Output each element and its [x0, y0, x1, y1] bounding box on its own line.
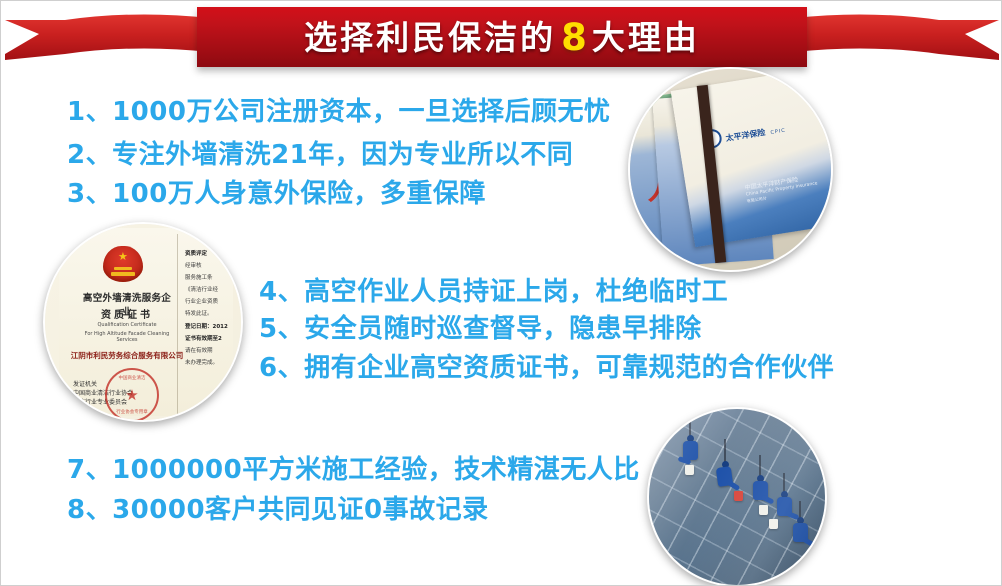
reason-index-3: 3、: [67, 179, 112, 209]
certificate-english-line1: Qualification Certificate: [79, 322, 175, 328]
facade-workers-photo: [647, 407, 827, 586]
certificate-right-line4: 《清洁行业经: [185, 284, 228, 296]
reason-text-4: 高空作业人员持证上岗，杜绝临时工: [304, 277, 728, 307]
insurance-doc-footer: 中国太平洋财产保险 China Pacific Property Insuran…: [744, 173, 819, 204]
reason-index-1: 1、: [67, 97, 112, 127]
certificate-title-line2: 资质证书: [79, 306, 175, 321]
seal-star-icon: ★: [125, 388, 138, 403]
reason-text-7: 1000000平方米施工经验，技术精湛无人比: [112, 455, 640, 485]
certificate-right-column: 资质评定 经审核 服务施工条 《清洁行业经 行业企业资质 特发此证。 登记日期：…: [185, 248, 228, 369]
reason-text-5: 安全员随时巡查督导，隐患早排除: [304, 314, 702, 344]
cpic-logo: 太平洋保险 CPIC: [701, 118, 787, 150]
certificate-english-line2: For High Altitude Facade Cleaning Servic…: [75, 331, 179, 343]
reason-item-3: 3、100万人身意外保险，多重保障: [67, 181, 486, 207]
reason-item-2: 2、专注外墙清洗21年，因为专业所以不同: [67, 142, 573, 168]
banner-highlight-number: 8: [556, 16, 592, 59]
reason-item-5: 5、安全员随时巡查督导，隐患早排除: [259, 316, 702, 342]
reason-item-6: 6、拥有企业高空资质证书，可靠规范的合作伙伴: [259, 355, 834, 381]
reason-index-4: 4、: [259, 277, 304, 307]
certificate-right-line7: 登记日期：2012: [185, 321, 228, 333]
reason-item-1: 1、1000万公司注册资本，一旦选择后顾无忧: [67, 99, 610, 125]
certificate-right-line6: 特发此证。: [185, 308, 228, 320]
national-emblem-icon: ★: [103, 246, 143, 282]
reason-index-7: 7、: [67, 455, 112, 485]
banner-title-prefix: 选择利民保洁的: [304, 21, 556, 54]
insurance-booklet-front: 太平洋保险 CPIC 中国太平洋财产保险 China Pacific Prope…: [671, 67, 833, 247]
certificate-right-line10: 未办理完成。: [185, 357, 228, 369]
certificate-right-line8: 证书有效期至2: [185, 333, 228, 345]
certificate-page: ★ 高空外墙清洗服务企业 资质证书 Qualification Certific…: [59, 228, 233, 416]
certificate-fold-line: [177, 234, 178, 420]
seal-bottom-text: 行业协会专用章: [107, 409, 157, 415]
reason-index-2: 2、: [67, 140, 112, 170]
reason-item-8: 8、30000客户共同见证0事故记录: [67, 497, 489, 523]
certificate-right-line3: 服务施工条: [185, 272, 228, 284]
certificate-right-line2: 经审核: [185, 260, 228, 272]
reason-text-6: 拥有企业高空资质证书，可靠规范的合作伙伴: [304, 353, 834, 383]
seal-top-text: 中国商业清洁: [107, 375, 157, 381]
promo-poster: 选择利民保洁的 8 大理由 1、1000万公司注册资本，一旦选择后顾无忧 2、专…: [0, 0, 1002, 586]
reason-text-1: 1000万公司注册资本，一旦选择后顾无忧: [112, 97, 610, 127]
ribbon-tail-right-icon: [794, 14, 999, 60]
glass-reflection-overlay: [649, 409, 825, 585]
official-red-seal: 中国商业清洁 ★ 行业协会专用章: [105, 368, 159, 422]
reason-index-6: 6、: [259, 353, 304, 383]
ribbon-tail-left-icon: [5, 14, 210, 60]
reason-item-4: 4、高空作业人员持证上岗，杜绝临时工: [259, 279, 728, 305]
reason-index-5: 5、: [259, 314, 304, 344]
reason-text-8: 30000客户共同见证0事故记录: [112, 495, 489, 525]
cpic-brand-cn: 太平洋保险: [725, 128, 766, 143]
cpic-brand-en: CPIC: [770, 128, 786, 136]
qualification-certificate-photo: ★ 高空外墙清洗服务企业 资质证书 Qualification Certific…: [43, 222, 243, 422]
ribbon-banner: 选择利民保洁的 8 大理由: [1, 5, 1002, 71]
banner-center-panel: 选择利民保洁的 8 大理由: [197, 7, 807, 67]
reason-text-3: 100万人身意外保险，多重保障: [112, 179, 486, 209]
reason-text-2: 专注外墙清洗21年，因为专业所以不同: [112, 140, 573, 170]
certificate-right-line5: 行业企业资质: [185, 296, 228, 308]
certificate-right-line9: 请在有效期: [185, 345, 228, 357]
banner-title-suffix: 大理由: [592, 21, 700, 54]
insurance-documents-photo: 人 人 太平洋保险 CPIC 中国太平洋财产保险 China Pacific P…: [628, 67, 833, 272]
certificate-right-line1: 资质评定: [185, 248, 228, 260]
reason-item-7: 7、1000000平方米施工经验，技术精湛无人比: [67, 457, 640, 483]
certificate-company-name: 江阴市利民劳务综合服务有限公司: [69, 350, 185, 361]
reason-index-8: 8、: [67, 495, 112, 525]
